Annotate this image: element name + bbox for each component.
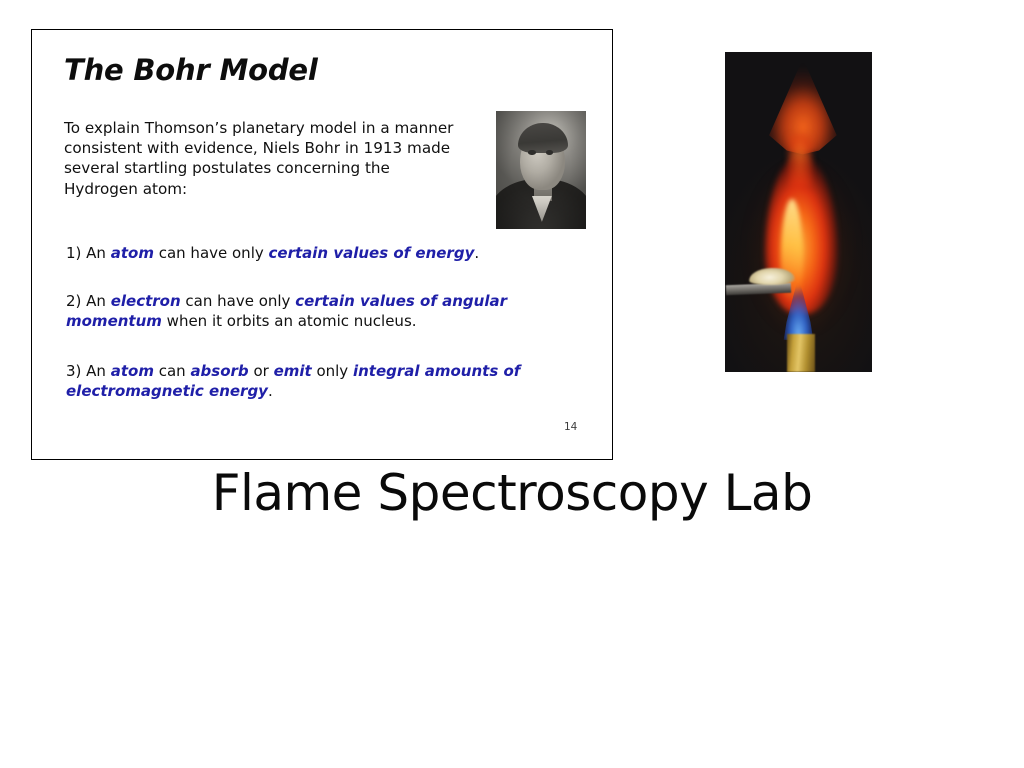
postulate-text: only <box>312 362 353 380</box>
postulate-text: or <box>249 362 274 380</box>
emphasised-term: certain values of energy <box>269 244 475 262</box>
bohr-model-slide: The Bohr Model To explain Thomson’s plan… <box>31 29 613 460</box>
emphasised-term: emit <box>274 362 312 380</box>
postulate-1: 1) An atom can have only certain values … <box>66 244 586 264</box>
postulate-text: can have only <box>154 244 269 262</box>
flame-test-photograph <box>725 52 872 372</box>
page-caption: Flame Spectroscopy Lab <box>0 466 1024 520</box>
postulate-2: 2) An electron can have only certain val… <box>66 292 586 331</box>
postulate-text: . <box>474 244 479 262</box>
postulate-3: 3) An atom can absorb or emit only integ… <box>66 362 586 401</box>
postulate-text: can <box>154 362 190 380</box>
emphasised-term: absorb <box>190 362 248 380</box>
emphasised-term: electron <box>111 292 181 310</box>
postulate-number: 3) <box>66 362 81 380</box>
bunsen-burner-top <box>787 334 815 372</box>
slide-title: The Bohr Model <box>64 53 318 87</box>
postulate-text: An <box>81 292 110 310</box>
emphasised-term: atom <box>111 244 154 262</box>
postulate-text: An <box>81 362 110 380</box>
portrait-vignette <box>496 111 586 229</box>
postulate-text: An <box>81 244 110 262</box>
niels-bohr-portrait-image <box>496 111 586 229</box>
slide-number: 14 <box>564 421 577 433</box>
postulate-text: when it orbits an atomic nucleus. <box>162 312 417 330</box>
emphasised-term: atom <box>111 362 154 380</box>
postulate-text: . <box>268 382 273 400</box>
postulate-number: 1) <box>66 244 81 262</box>
postulate-number: 2) <box>66 292 81 310</box>
slide-intro-paragraph: To explain Thomson’s planetary model in … <box>64 118 456 199</box>
postulate-text: can have only <box>181 292 296 310</box>
